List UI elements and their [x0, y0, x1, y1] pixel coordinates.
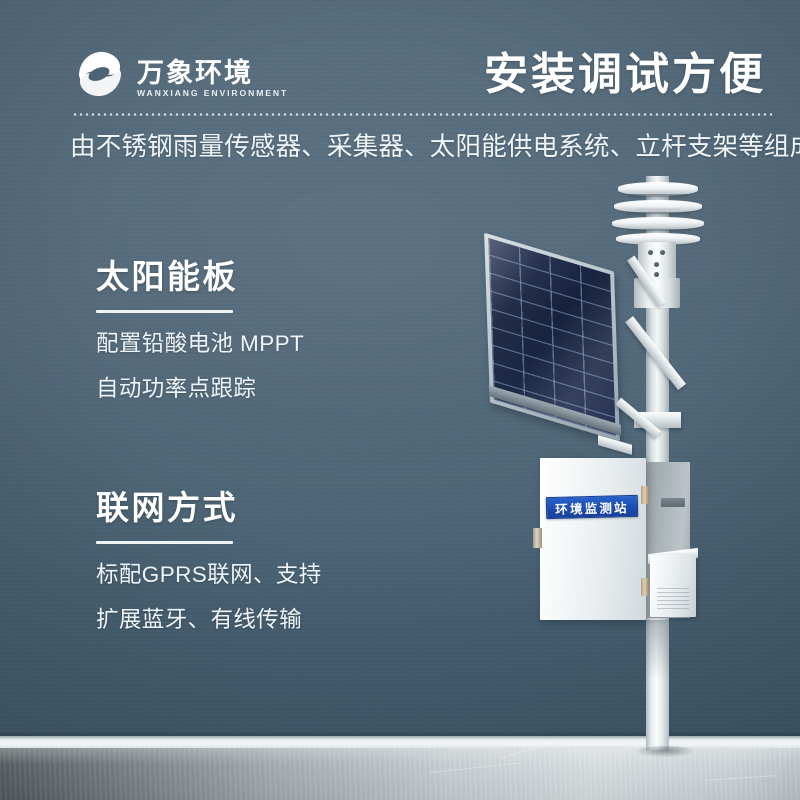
- brand-logo: 万象环境 WANXIANG ENVIRONMENT: [72, 46, 288, 102]
- feature-divider: [96, 310, 233, 313]
- swirl-logo-icon: [72, 46, 128, 102]
- feature-heading: 联网方式: [96, 487, 322, 528]
- feature-heading: 太阳能板: [96, 256, 304, 297]
- feature-block-network: 联网方式 标配GPRS联网、支持 扩展蓝牙、有线传输: [96, 487, 322, 631]
- feature-line: 标配GPRS联网、支持: [96, 564, 322, 587]
- feature-line: 配置铅酸电池 MPPT: [96, 333, 304, 356]
- brand-wordmark: 万象环境 WANXIANG ENVIRONMENT: [137, 59, 288, 102]
- brand-name-en: WANXIANG ENVIRONMENT: [137, 87, 288, 100]
- brand-name-cn: 万象环境: [137, 59, 288, 87]
- floor-sheen: [0, 748, 800, 800]
- header-divider: [72, 113, 772, 116]
- feature-line: 扩展蓝牙、有线传输: [96, 609, 322, 632]
- feature-line: 自动功率点跟踪: [96, 378, 304, 401]
- page-subtitle: 由不锈钢雨量传感器、采集器、太阳能供电系统、立杆支架等组成: [70, 130, 786, 165]
- page-title: 安装调试方便: [484, 48, 766, 102]
- feature-divider: [96, 541, 233, 544]
- feature-block-solar-panel: 太阳能板 配置铅酸电池 MPPT 自动功率点跟踪: [96, 256, 304, 400]
- product-poster: 环境监测站 万象环境 WANXIANG ENVIRONMENT 安装调试方便 由…: [0, 0, 800, 800]
